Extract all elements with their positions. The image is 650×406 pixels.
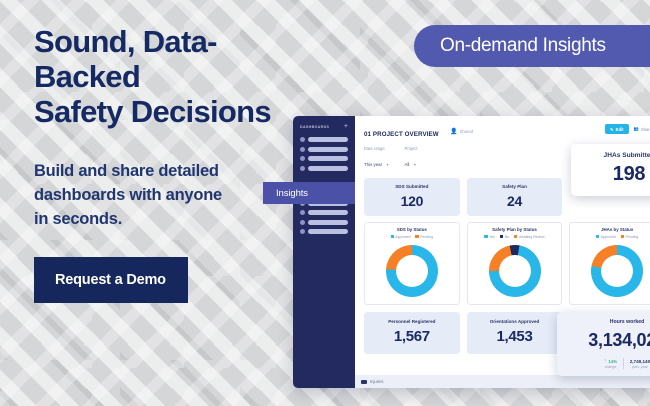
kpi-card-jhas-submitted[interactable]: JHAs Submitted 198 <box>571 144 650 196</box>
legend-swatch <box>415 235 418 238</box>
legend-swatch <box>484 235 487 238</box>
status-bar-label: Injuries <box>370 379 384 384</box>
donut-chart-safety-plan <box>489 245 541 297</box>
bullet-icon <box>300 166 305 171</box>
sidebar-item[interactable] <box>300 166 348 171</box>
filter-date-range[interactable]: Date range This year ▾ <box>364 146 389 171</box>
chart-row: SDS by Status Approved Pending <box>364 222 650 305</box>
donut-chart-sds <box>386 245 438 297</box>
sidebar-item-label <box>308 147 348 152</box>
chart-legend: Approved Pending <box>368 235 456 239</box>
sidebar-item-label <box>308 137 348 142</box>
donut-chart-wrap <box>368 243 456 298</box>
kpi-card-safety-plan[interactable]: Safety Plan 24 <box>467 178 563 216</box>
legend-swatch <box>500 235 503 238</box>
sidebar-item[interactable] <box>300 229 348 234</box>
injuries-icon <box>361 380 367 384</box>
filter-project-label: Project <box>405 146 418 151</box>
pencil-icon: ✎ <box>610 127 614 132</box>
share-button[interactable]: 👥 Share <box>634 126 650 132</box>
filter-project-value: All <box>405 162 410 167</box>
share-people-icon: 👥 <box>634 126 639 132</box>
chart-legend: Yes No Awaiting Review <box>471 235 559 239</box>
dashboard-app-window: DASHBOARDS + <box>293 116 650 388</box>
app-sidebar: DASHBOARDS + <box>293 116 355 388</box>
legend-item: Approved <box>391 235 411 239</box>
legend-label: Approved <box>395 235 410 239</box>
legend-item: Pending <box>415 235 433 239</box>
edit-button[interactable]: ✎ Edit <box>605 124 628 134</box>
bullet-icon <box>300 220 305 225</box>
add-dashboard-icon[interactable]: + <box>344 124 348 130</box>
kpi-value: 1,453 <box>471 328 559 345</box>
kpi-title: JHAs Submitted <box>577 152 650 159</box>
chart-title: SDS by Status <box>368 227 456 232</box>
sidebar-item-label <box>308 156 348 161</box>
legend-label: Pending <box>626 235 639 239</box>
bullet-icon <box>300 210 305 215</box>
legend-swatch <box>596 235 599 238</box>
kpi-card-sds-submitted[interactable]: SDS Submitted 120 <box>364 178 460 216</box>
sidebar-item[interactable] <box>300 137 348 142</box>
promo-banner: Sound, Data-Backed Safety Decisions Buil… <box>0 0 650 406</box>
chevron-down-icon: ▾ <box>414 162 416 167</box>
kpi-card-personnel-registered[interactable]: Personnel Registered 1,567 <box>364 312 460 354</box>
page-title: Sound, Data-Backed Safety Decisions <box>34 24 296 129</box>
kpi-card-hours-worked[interactable]: Hours worked 3,134,020 ↑ 14% change 2,74… <box>557 312 650 376</box>
dashboard-title: 01 PROJECT OVERVIEW <box>364 131 439 138</box>
legend-swatch <box>621 235 624 238</box>
legend-swatch <box>391 235 394 238</box>
kpi-card-orientations-approved[interactable]: Orientations Approved 1,453 <box>467 312 563 354</box>
filter-date-range-control[interactable]: This year ▾ <box>364 153 389 171</box>
kpi-prev-group: 2,749,140 prev. year <box>630 359 650 369</box>
on-demand-insights-label: On-demand Insights <box>440 35 606 57</box>
kpi-value: 1,567 <box>368 328 456 345</box>
kpi-title: Safety Plan <box>471 184 559 189</box>
kpi-value: 120 <box>368 193 456 209</box>
chart-title: JHAs by Status <box>573 227 650 232</box>
kpi-change-caption: change <box>604 365 617 369</box>
divider <box>623 358 624 369</box>
sidebar-title: DASHBOARDS <box>300 125 329 129</box>
filter-project-control[interactable]: All ▾ <box>405 153 418 171</box>
legend-label: Approved <box>601 235 616 239</box>
legend-item: Pending <box>621 235 639 239</box>
filter-date-range-label: Date range <box>364 146 389 151</box>
chart-card-safety-plan-by-status[interactable]: Safety Plan by Status Yes No Awaiting <box>467 222 563 305</box>
sidebar-item[interactable] <box>300 220 348 225</box>
sidebar-header: DASHBOARDS + <box>300 124 348 130</box>
bullet-icon <box>300 137 305 142</box>
status-badge: 👤 Shared <box>450 129 473 135</box>
bullet-icon <box>300 156 305 161</box>
dashboard-toolbar: 01 PROJECT OVERVIEW 👤 Shared ✎ Edit 👥 Sh… <box>364 123 650 141</box>
sidebar-item-label <box>308 220 348 225</box>
on-demand-insights-badge: On-demand Insights <box>414 25 650 67</box>
filter-date-range-value: This year <box>364 162 382 167</box>
hero-copy: Sound, Data-Backed Safety Decisions Buil… <box>34 24 296 303</box>
legend-label: Pending <box>420 235 433 239</box>
legend-label: Yes <box>489 235 495 239</box>
kpi-change-group: ↑ 14% change <box>604 359 617 369</box>
arrow-up-icon: ↑ <box>604 359 607 364</box>
share-button-label: Share <box>641 127 650 132</box>
request-demo-button[interactable]: Request a Demo <box>34 257 188 303</box>
kpi-title: Hours worked <box>564 319 650 325</box>
kpi-change-percent: 14% <box>608 359 617 364</box>
kpi-title: SDS Submitted <box>368 184 456 189</box>
bullet-icon <box>300 147 305 152</box>
legend-label: Awaiting Review <box>519 235 545 239</box>
sidebar-item-label <box>308 166 348 171</box>
donut-chart-wrap <box>573 243 650 298</box>
kpi-prev-caption: prev. year <box>630 365 650 369</box>
legend-item: Approved <box>596 235 616 239</box>
kpi-value: 3,134,020 <box>564 330 650 351</box>
legend-item: Yes <box>484 235 495 239</box>
dashboard-title-group: 01 PROJECT OVERVIEW 👤 Shared <box>364 123 473 141</box>
donut-chart-jhas <box>591 245 643 297</box>
sidebar-item-label <box>308 210 348 215</box>
shared-person-icon: 👤 <box>450 129 457 135</box>
legend-item: Awaiting Review <box>514 235 544 239</box>
sidebar-item[interactable] <box>300 156 348 161</box>
chart-card-jhas-by-status[interactable]: JHAs by Status Approved Pending <box>569 222 650 305</box>
kpi-title: Personnel Registered <box>368 319 456 324</box>
kpi-value: 198 <box>577 163 650 186</box>
shared-label: Shared <box>460 129 474 134</box>
kpi-value: 24 <box>471 193 559 209</box>
app-status-bar: Injuries <box>355 375 650 388</box>
legend-swatch <box>514 235 517 238</box>
legend-item: No <box>500 235 509 239</box>
bullet-icon <box>300 229 305 234</box>
sidebar-item-label <box>308 229 348 234</box>
kpi-change-top: ↑ 14% <box>604 359 617 364</box>
legend-label: No <box>505 235 509 239</box>
chart-card-sds-by-status[interactable]: SDS by Status Approved Pending <box>364 222 460 305</box>
kpi-title: Orientations Approved <box>471 319 559 324</box>
hero-subheadline: Build and share detailed dashboards with… <box>34 159 296 231</box>
chart-title: Safety Plan by Status <box>471 227 559 232</box>
toolbar-actions: ✎ Edit 👥 Share ⋮ <box>605 123 650 134</box>
sidebar-item[interactable] <box>300 147 348 152</box>
kpi-prev-value: 2,749,140 <box>630 359 650 364</box>
kpi-footer: ↑ 14% change 2,749,140 prev. year <box>564 358 650 369</box>
edit-button-label: Edit <box>616 127 624 132</box>
chart-legend: Approved Pending <box>573 235 650 239</box>
donut-chart-wrap <box>471 243 559 298</box>
sidebar-item[interactable] <box>300 210 348 215</box>
filter-project[interactable]: Project All ▾ <box>405 146 418 171</box>
chevron-down-icon: ▾ <box>387 162 389 167</box>
